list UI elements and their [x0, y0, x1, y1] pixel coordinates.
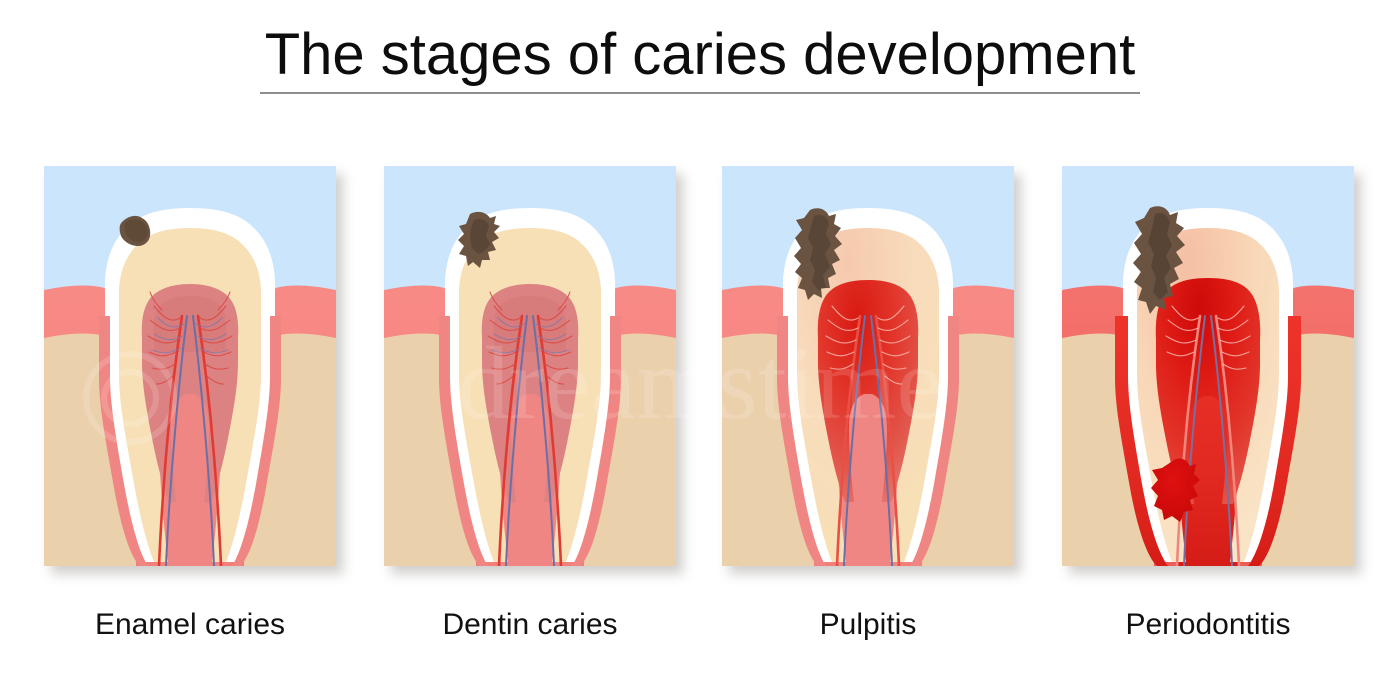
- caption-pulpitis: Pulpitis: [722, 608, 1014, 642]
- caption-dentin-caries: Dentin caries: [384, 608, 676, 642]
- panel-dentin-caries[interactable]: [384, 166, 676, 566]
- illustration-panel-row: [0, 166, 1400, 568]
- title-block: The stages of caries development: [0, 26, 1400, 94]
- page-title: The stages of caries development: [261, 26, 1139, 92]
- panel-periodontitis[interactable]: [1062, 166, 1354, 566]
- caption-periodontitis: Periodontitis: [1062, 608, 1354, 642]
- caption-row: Enamel caries Dentin caries Pulpitis Per…: [0, 608, 1400, 656]
- caption-enamel-caries: Enamel caries: [44, 608, 336, 642]
- panel-enamel-caries[interactable]: [44, 166, 336, 566]
- title-underline-rule: [260, 92, 1140, 94]
- panel-pulpitis[interactable]: [722, 166, 1014, 566]
